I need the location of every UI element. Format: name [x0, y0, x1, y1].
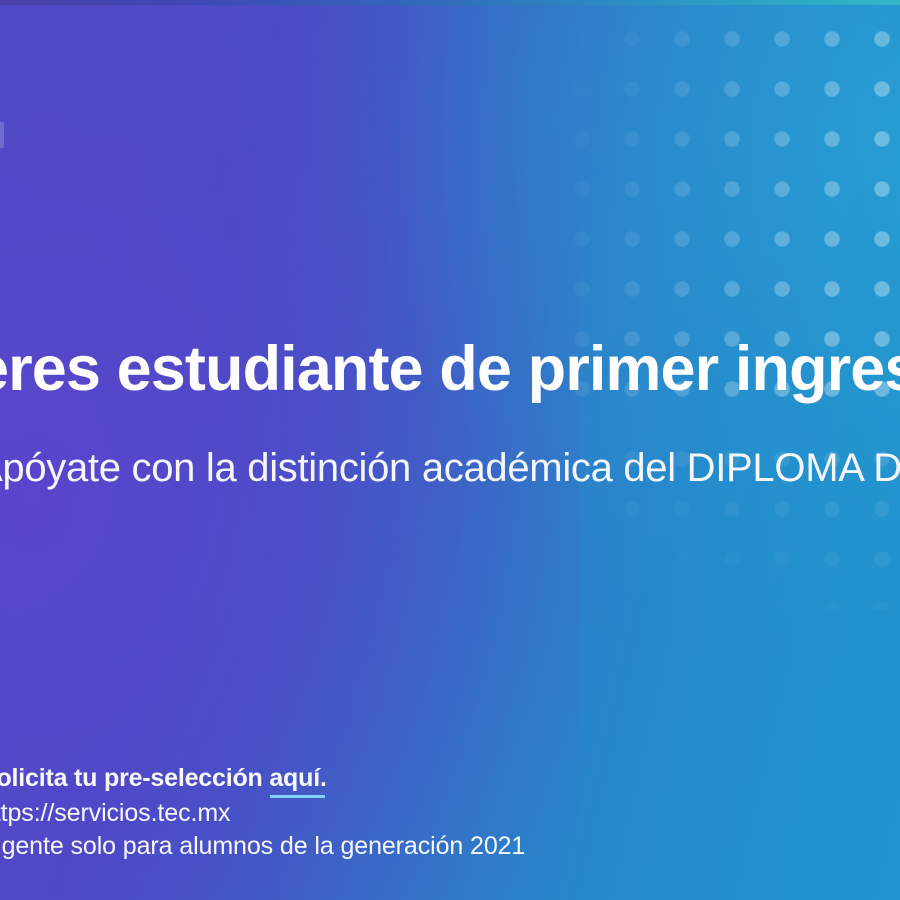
- footer-url[interactable]: https://servicios.tec.mx: [0, 801, 800, 826]
- footer-disclaimer: Vigente solo para alumnos de la generaci…: [0, 834, 800, 859]
- footer-call-to-action: Solicita tu pre-selección aquí.: [0, 766, 800, 791]
- footer-cta-prefix: Solicita tu pre-selección: [0, 764, 269, 792]
- page-title: eres estudiante de primer ingreso: [0, 337, 900, 401]
- preselection-link-label: aquí.: [269, 764, 326, 792]
- subtitle-text: Apóyate con la distinción académica del …: [0, 447, 900, 489]
- promo-banner-slide: eres estudiante de primer ingreso Apóyat…: [0, 0, 900, 900]
- footer-text-block: Solicita tu pre-selección aquí. https://…: [0, 766, 800, 859]
- cropped-logo-sliver: [0, 122, 4, 148]
- link-underline: [270, 795, 324, 798]
- preselection-link[interactable]: aquí.: [269, 766, 326, 791]
